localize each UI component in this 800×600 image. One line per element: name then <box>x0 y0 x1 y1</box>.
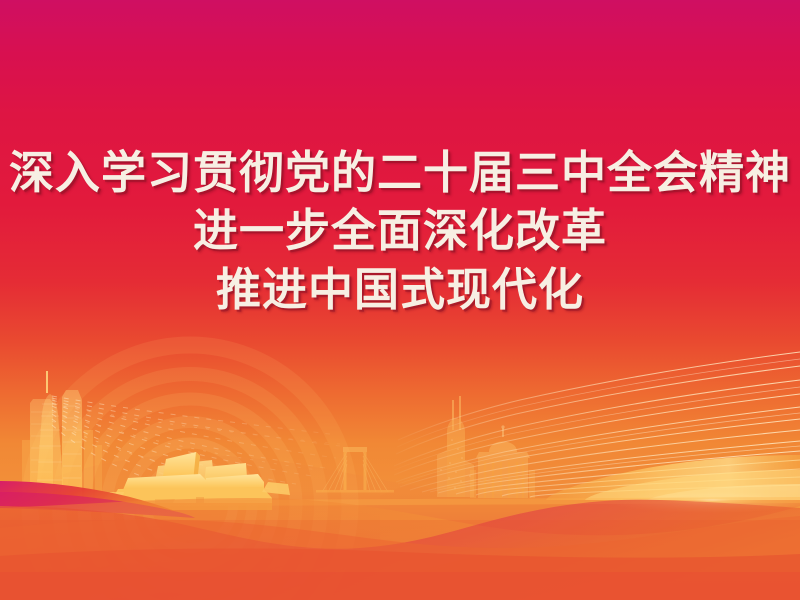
poster-canvas: 深入学习贯彻党的二十届三中全会精神 进一步全面深化改革 推进中国式现代化 <box>0 0 800 600</box>
background-artwork <box>0 0 800 600</box>
